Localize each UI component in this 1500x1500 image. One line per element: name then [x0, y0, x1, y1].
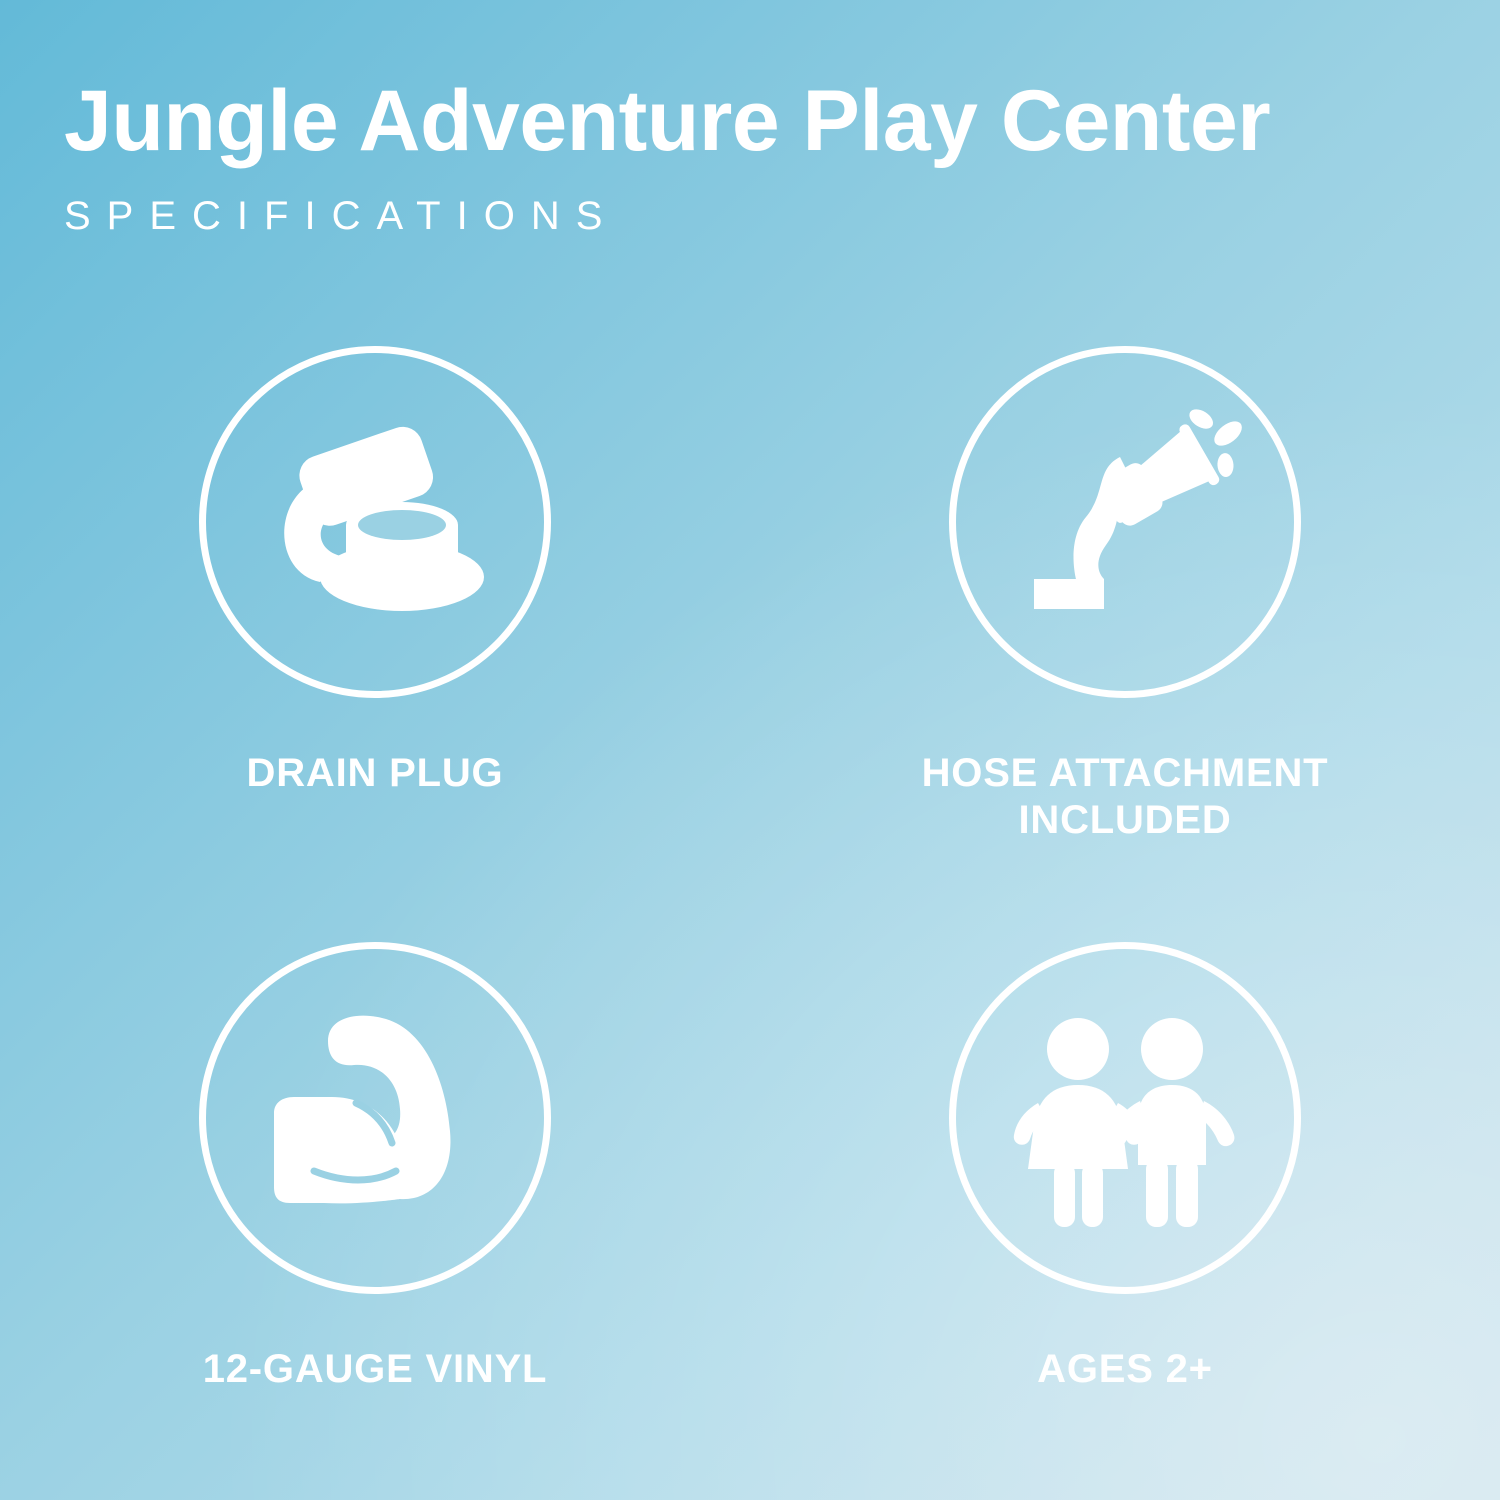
icon-ring	[199, 346, 551, 698]
drain-plug-icon	[250, 397, 500, 647]
page-subtitle: SPECIFICATIONS	[64, 194, 1440, 239]
spec-item-drain-plug: DRAIN PLUG	[0, 346, 750, 844]
header: Jungle Adventure Play Center SPECIFICATI…	[64, 78, 1440, 239]
spec-item-vinyl-gauge: 12-GAUGE VINYL	[0, 942, 750, 1393]
spec-item-hose-attachment: HOSE ATTACHMENT INCLUDED	[750, 346, 1500, 844]
flexed-bicep-icon	[250, 993, 500, 1243]
spec-label: DRAIN PLUG	[247, 750, 504, 797]
spec-label: AGES 2+	[1037, 1346, 1213, 1393]
two-children-icon	[1000, 993, 1250, 1243]
icon-ring	[949, 942, 1301, 1294]
icon-ring	[949, 346, 1301, 698]
spec-label: HOSE ATTACHMENT INCLUDED	[890, 750, 1360, 844]
spec-item-age-range: AGES 2+	[750, 942, 1500, 1393]
hose-nozzle-icon	[1000, 397, 1250, 647]
specifications-sheet: Jungle Adventure Play Center SPECIFICATI…	[0, 0, 1500, 1500]
spec-grid: DRAIN PLUG	[0, 346, 1500, 1394]
icon-ring	[199, 942, 551, 1294]
page-title: Jungle Adventure Play Center	[64, 78, 1440, 166]
spec-label: 12-GAUGE VINYL	[203, 1346, 548, 1393]
